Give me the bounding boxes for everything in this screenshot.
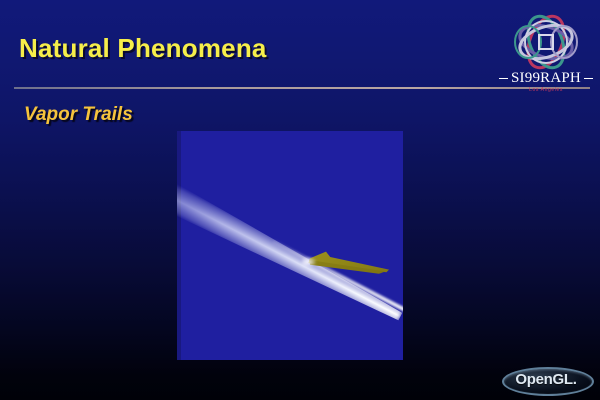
slide-title: Natural Phenomena <box>19 33 267 64</box>
aircraft-nose-glow <box>302 257 316 267</box>
slide-subtitle: Vapor Trails <box>24 104 133 126</box>
opengl-logo: OpenGL. <box>502 366 594 394</box>
opengl-wordmark: OpenGL. <box>502 366 590 393</box>
siggraph-wordmark: SI99RAPH <box>498 71 594 86</box>
siggraph-city-label: Los Angeles <box>498 87 594 93</box>
siggraph-logo: SI99RAPH Los Angeles <box>498 12 594 104</box>
siggraph-rings-icon <box>498 12 594 74</box>
siggraph-dash-right <box>584 78 593 79</box>
vapor-trail-render-image <box>177 131 403 360</box>
presentation-slide: Natural Phenomena Vapor Trails <box>0 0 600 400</box>
aircraft-silhouette <box>305 248 389 278</box>
render-left-edge <box>177 131 181 360</box>
